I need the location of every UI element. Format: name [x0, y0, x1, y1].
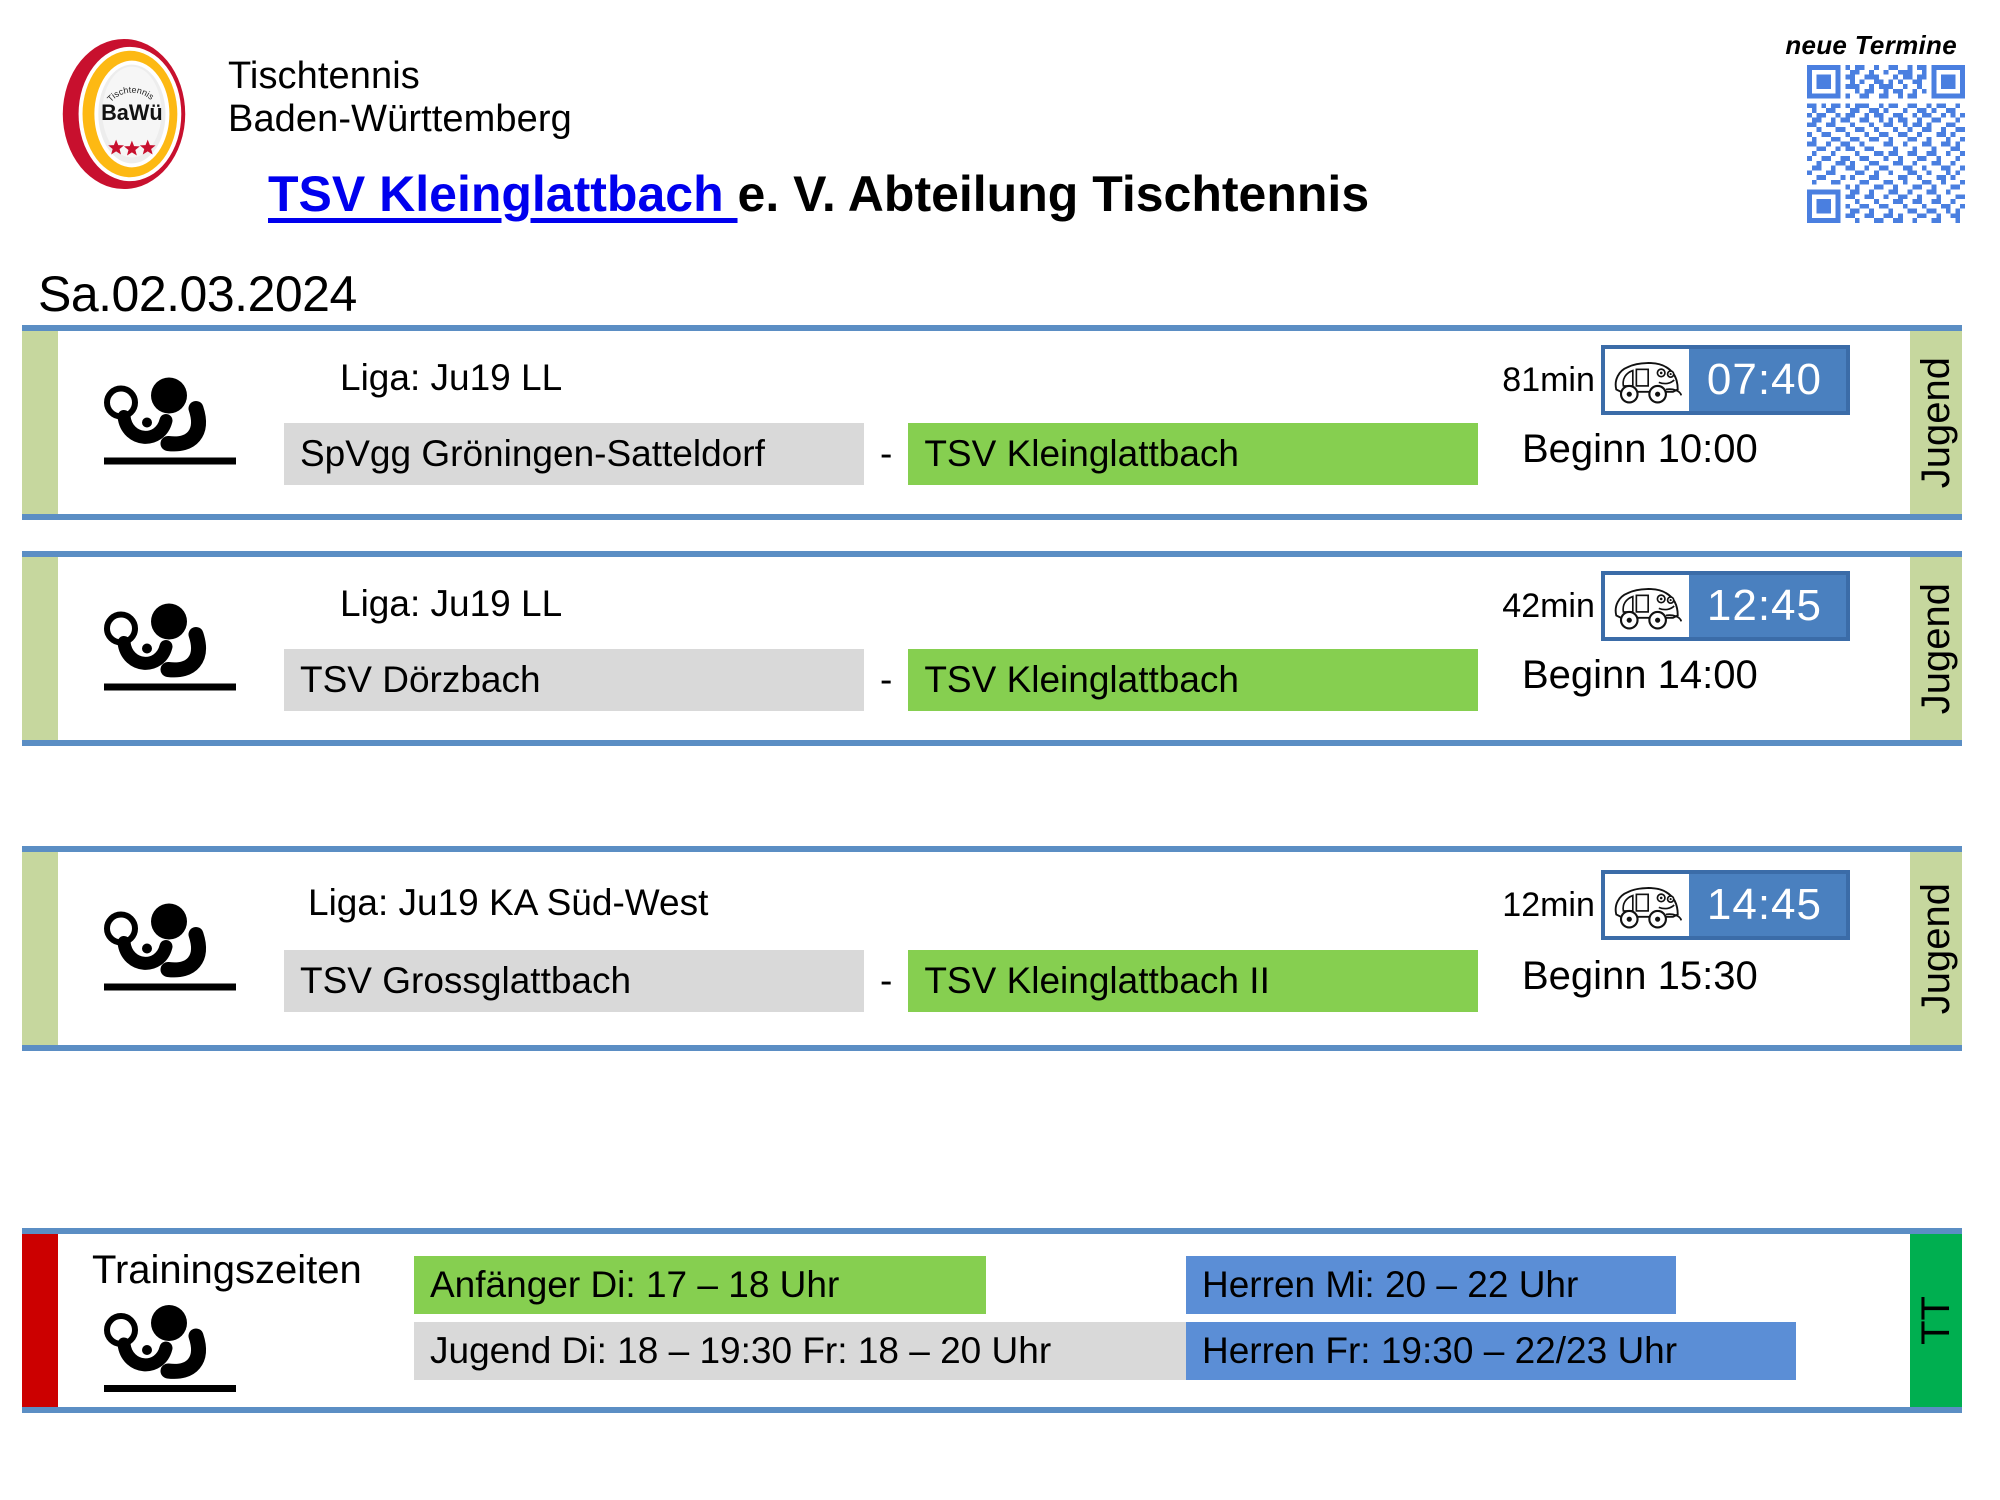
start-time: Beginn 10:00 [1522, 427, 1758, 472]
league-label: Liga: Ju19 KA Süd-West [308, 882, 708, 924]
training-category-strip: TT [1910, 1234, 1962, 1407]
table-tennis-pictogram-icon [100, 596, 240, 701]
versus-dash: - [864, 433, 908, 475]
training-line: Jugend Di: 18 – 19:30 Fr: 18 – 20 Uhr He… [414, 1318, 1796, 1384]
training-men-friday: Herren Fr: 19:30 – 22/23 Uhr [1186, 1322, 1796, 1380]
team-away: TSV Grossglattbach [284, 950, 864, 1012]
category-label: Jugend [1916, 583, 1956, 714]
team-home: TSV Kleinglattbach [908, 649, 1478, 711]
departure-badge: 12:45 [1601, 571, 1850, 641]
versus-dash: - [864, 960, 908, 1002]
car-icon-glyph [1609, 879, 1685, 931]
training-beginners: Anfänger Di: 17 – 18 Uhr [414, 1256, 986, 1314]
table-tennis-pictogram-icon [100, 896, 240, 1001]
teams-pair: TSV Dörzbach - TSV Kleinglattbach [284, 649, 1478, 711]
category-strip-left [22, 852, 58, 1045]
departure-badge: 07:40 [1601, 345, 1850, 415]
team-home: TSV Kleinglattbach [908, 423, 1478, 485]
training-grid: Anfänger Di: 17 – 18 Uhr Herren Mi: 20 –… [414, 1252, 1796, 1384]
car-icon [1605, 575, 1689, 637]
travel-duration: 12min [1502, 886, 1595, 925]
start-time: Beginn 14:00 [1522, 653, 1758, 698]
travel-duration: 81min [1502, 361, 1595, 400]
training-line: Anfänger Di: 17 – 18 Uhr Herren Mi: 20 –… [414, 1252, 1796, 1318]
table-tennis-pictogram-icon [100, 1298, 240, 1403]
car-icon-glyph [1609, 354, 1685, 406]
car-icon [1605, 874, 1689, 936]
category-strip-left [22, 331, 58, 514]
team-away: TSV Dörzbach [284, 649, 864, 711]
travel-duration: 42min [1502, 587, 1595, 626]
category-strip-right: Jugend [1910, 331, 1962, 514]
training-block[interactable]: Trainingszeiten Anfänger Di: 17 – 18 Uhr… [22, 1228, 1962, 1413]
travel-info: 81min [1502, 345, 1850, 415]
category-strip-right: Jugend [1910, 852, 1962, 1045]
training-spacer [986, 1256, 1186, 1314]
departure-badge: 14:45 [1601, 870, 1850, 940]
schedule-list: Liga: Ju19 LL 81min [0, 0, 2000, 1500]
training-men-wednesday: Herren Mi: 20 – 22 Uhr [1186, 1256, 1676, 1314]
match-row[interactable]: Liga: Ju19 KA Süd-West 12min [22, 846, 1962, 1051]
category-strip-right: Jugend [1910, 557, 1962, 740]
category-strip-left [22, 557, 58, 740]
category-label: Jugend [1916, 357, 1956, 488]
training-title: Trainingszeiten [92, 1248, 362, 1293]
team-home: TSV Kleinglattbach II [908, 950, 1478, 1012]
training-category-label: TT [1916, 1296, 1956, 1345]
league-label: Liga: Ju19 LL [340, 357, 562, 399]
departure-time: 12:45 [1689, 581, 1846, 631]
car-icon [1605, 349, 1689, 411]
travel-info: 12min [1502, 870, 1850, 940]
match-row[interactable]: Liga: Ju19 LL 81min [22, 325, 1962, 520]
departure-time: 07:40 [1689, 355, 1846, 405]
travel-info: 42min [1502, 571, 1850, 641]
league-label: Liga: Ju19 LL [340, 583, 562, 625]
match-row[interactable]: Liga: Ju19 LL 42min [22, 551, 1962, 746]
table-tennis-pictogram-icon [100, 370, 240, 475]
departure-time: 14:45 [1689, 880, 1846, 930]
versus-dash: - [864, 659, 908, 701]
teams-pair: SpVgg Gröningen-Satteldorf - TSV Kleingl… [284, 423, 1478, 485]
training-youth: Jugend Di: 18 – 19:30 Fr: 18 – 20 Uhr [414, 1322, 1186, 1380]
car-icon-glyph [1609, 580, 1685, 632]
teams-pair: TSV Grossglattbach - TSV Kleinglattbach … [284, 950, 1478, 1012]
start-time: Beginn 15:30 [1522, 954, 1758, 999]
team-away: SpVgg Gröningen-Satteldorf [284, 423, 864, 485]
category-label: Jugend [1916, 883, 1956, 1014]
training-strip-left [22, 1234, 58, 1407]
